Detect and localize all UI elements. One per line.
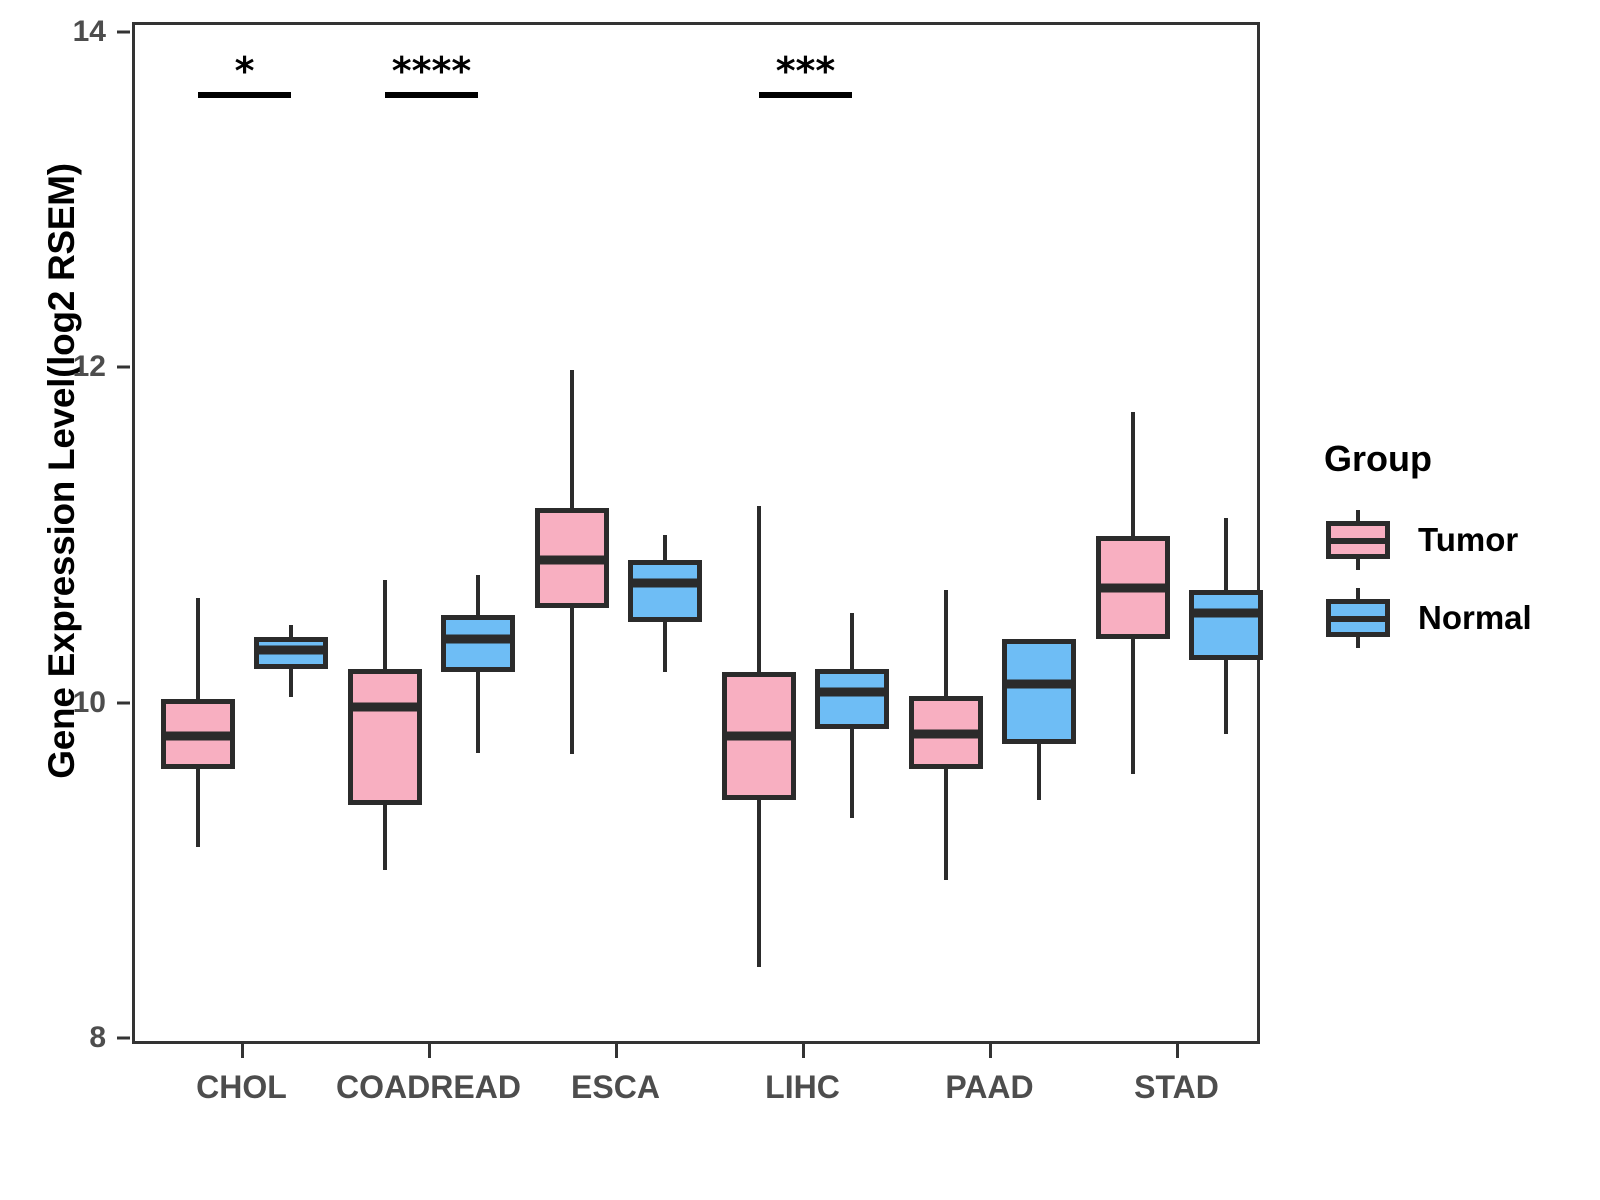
significance-label-chol: * — [235, 52, 255, 90]
x-tick-label-paad: PAAD — [945, 1069, 1033, 1106]
x-tick-mark-lihc — [802, 1044, 805, 1058]
x-tick-mark-stad — [1176, 1044, 1179, 1058]
x-tick-label-lihc: LIHC — [765, 1069, 840, 1106]
boxplot-median-chol-normal — [254, 646, 328, 655]
boxplot-median-lihc-tumor — [722, 731, 796, 740]
y-tick-label-12: 12 — [36, 350, 106, 384]
y-tick-label-14: 14 — [36, 15, 106, 49]
boxplot-box-coadread-normal — [441, 615, 515, 672]
boxplot-median-esca-normal — [628, 579, 702, 588]
y-tick-label-10: 10 — [36, 686, 106, 720]
x-tick-label-esca: ESCA — [571, 1069, 660, 1106]
y-tick-mark — [117, 31, 130, 34]
boxplot-box-lihc-normal — [815, 669, 889, 729]
boxplot-box-coadread-tumor — [348, 669, 422, 805]
boxplot-box-paad-normal — [1002, 639, 1076, 745]
boxplot-median-lihc-normal — [815, 688, 889, 697]
boxplot-median-coadread-tumor — [348, 703, 422, 712]
legend-label-normal: Normal — [1418, 599, 1532, 637]
x-tick-mark-chol — [241, 1044, 244, 1058]
x-tick-mark-coadread — [428, 1044, 431, 1058]
y-tick-label-8: 8 — [36, 1021, 106, 1055]
x-tick-mark-paad — [989, 1044, 992, 1058]
y-tick-mark — [117, 701, 130, 704]
x-tick-mark-esca — [615, 1044, 618, 1058]
plot-panel: ******** — [132, 22, 1260, 1044]
boxplot-box-esca-normal — [628, 560, 702, 622]
legend-title: Group — [1324, 438, 1592, 480]
legend-key-median — [1326, 616, 1390, 622]
boxplot-median-stad-tumor — [1096, 584, 1170, 593]
significance-label-lihc: *** — [776, 52, 836, 90]
chart-root: Gene Expression Level(log2 RSEM) 8101214… — [0, 0, 1600, 1200]
legend: Group TumorNormal — [1322, 438, 1592, 660]
legend-entry-tumor[interactable]: Tumor — [1322, 504, 1592, 576]
boxplot-median-paad-normal — [1002, 679, 1076, 688]
boxplot-box-stad-normal — [1189, 590, 1263, 660]
x-tick-label-chol: CHOL — [196, 1069, 287, 1106]
legend-label-tumor: Tumor — [1418, 521, 1518, 559]
significance-label-coadread: **** — [392, 52, 472, 90]
y-axis-title: Gene Expression Level(log2 RSEM) — [41, 91, 83, 851]
y-tick-mark — [117, 1037, 130, 1040]
boxplot-median-stad-normal — [1189, 609, 1263, 618]
x-tick-label-coadread: COADREAD — [336, 1069, 521, 1106]
y-tick-mark — [117, 366, 130, 369]
legend-key-tumor — [1322, 504, 1394, 576]
legend-entry-normal[interactable]: Normal — [1322, 582, 1592, 654]
legend-key-normal — [1322, 582, 1394, 654]
legend-key-median — [1326, 538, 1390, 544]
plot-area: ******** — [135, 25, 1257, 1041]
boxplot-median-chol-tumor — [161, 731, 235, 740]
x-tick-label-stad: STAD — [1134, 1069, 1219, 1106]
boxplot-median-paad-tumor — [909, 730, 983, 739]
boxplot-median-coadread-normal — [441, 634, 515, 643]
legend-entries: TumorNormal — [1322, 504, 1592, 654]
boxplot-median-esca-tumor — [535, 555, 609, 564]
